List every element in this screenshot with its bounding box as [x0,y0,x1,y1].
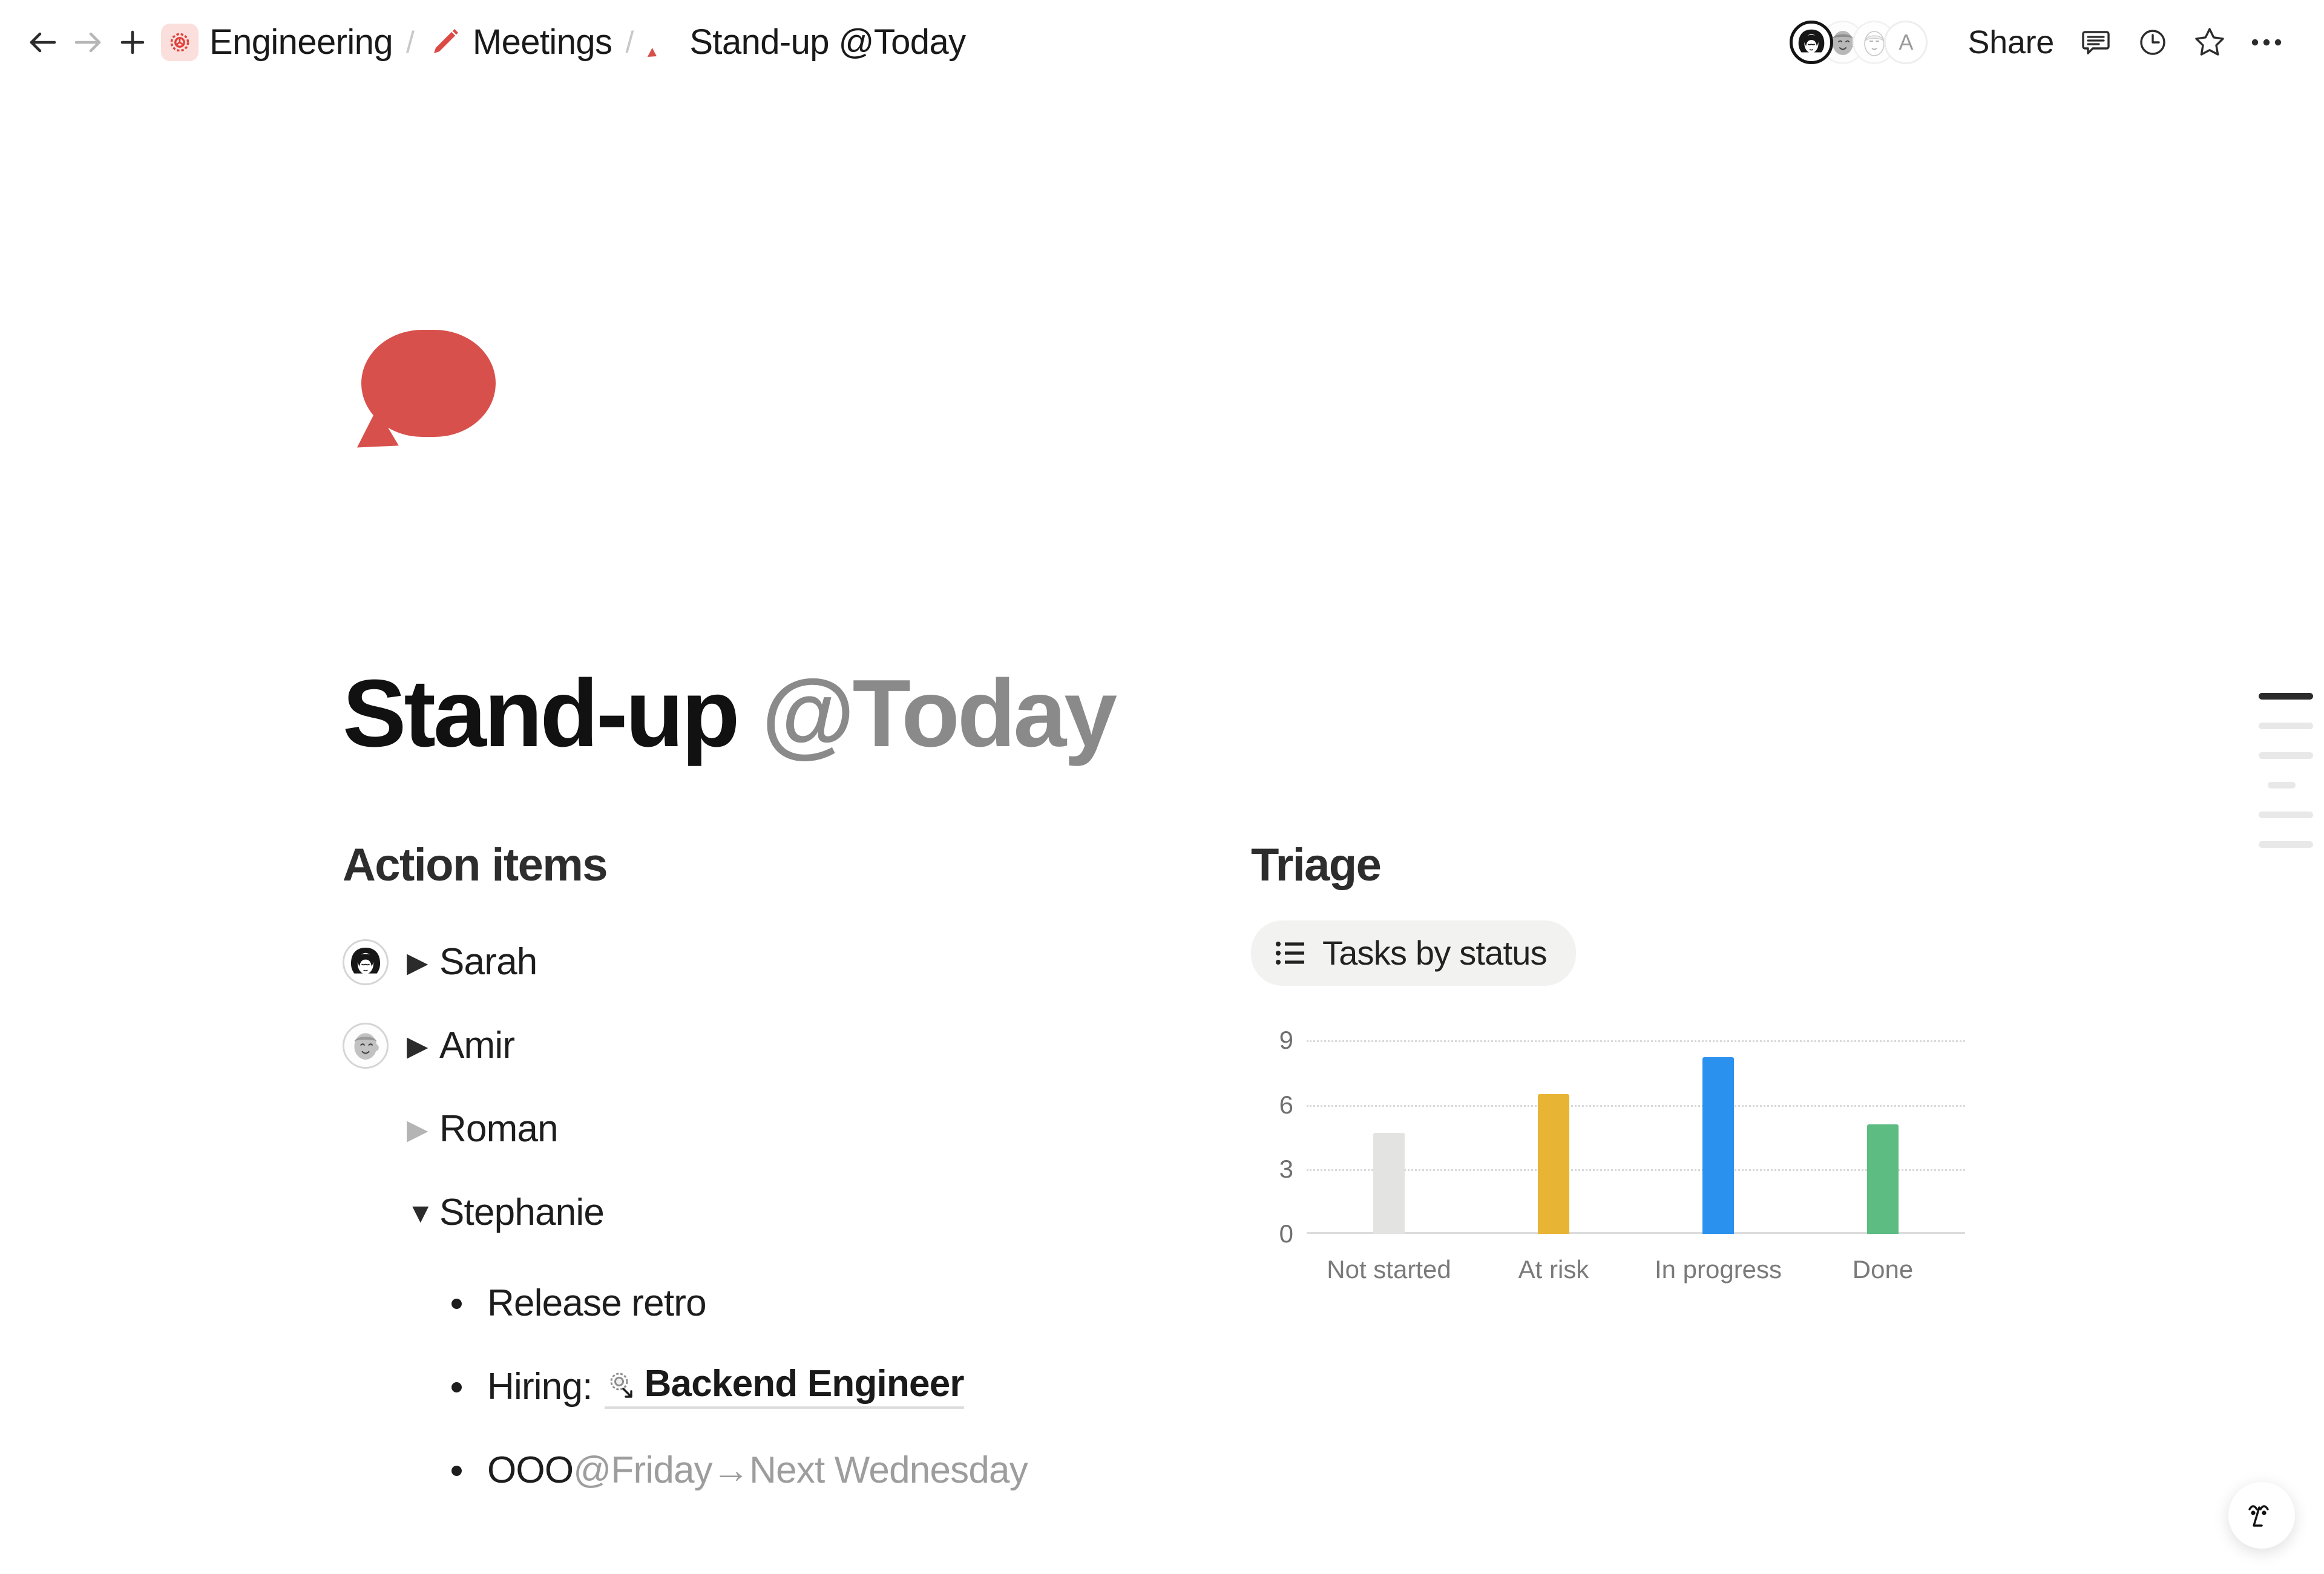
comment-icon [2080,27,2112,58]
page-title-date: @Today [761,660,1115,767]
action-item-name-roman: Roman [439,1110,558,1148]
outline-line-3[interactable] [2268,782,2296,789]
list-item[interactable]: Hiring: Backend Engineer [343,1345,1190,1429]
chart-bar-done[interactable] [1867,1124,1899,1234]
back-button[interactable] [21,20,65,65]
chart-x-tick: At risk [1471,1257,1636,1282]
gear-page-link-icon [605,1368,636,1400]
more-options-icon [2250,36,2283,48]
breadcrumb: Engineering / Meetings / Stand-up @Today [161,24,1790,61]
action-item-name-stephanie: Stephanie [439,1194,604,1231]
outline-line-1[interactable] [2259,723,2313,729]
action-item-person-sarah[interactable]: ▶ Sarah [343,920,1190,1004]
pencil-icon [428,25,462,59]
collapse-caret-stephanie[interactable]: ▼ [407,1199,439,1227]
breadcrumb-label-engineering: Engineering [209,25,393,60]
list-item-hiring: Hiring: Backend Engineer [487,1365,964,1409]
chart-bar-at-risk[interactable] [1538,1094,1569,1234]
chart-y-tick: 3 [1251,1156,1293,1182]
expand-caret-roman[interactable]: ▶ [407,1115,439,1143]
ooo-date-from[interactable]: @Friday [573,1452,712,1489]
chart-bars [1307,1040,1965,1234]
action-item-person-amir[interactable]: ▶ Amir [343,1004,1190,1087]
ooo-arrow: → [712,1452,749,1489]
backend-engineer-link-label: Backend Engineer [645,1365,964,1403]
avatar-placeholder [343,1190,389,1236]
breadcrumb-label-meetings: Meetings [473,25,612,60]
breadcrumb-item-engineering[interactable]: Engineering [161,24,393,61]
chart-y-tick: 0 [1251,1221,1293,1247]
page-title-main: Stand-up [343,660,761,767]
outline-line-0[interactable] [2259,693,2313,700]
action-item-name-sarah: Sarah [439,943,537,981]
top-bar-actions: A Share [1790,18,2295,67]
avatar-sarah [343,939,389,985]
action-items-column: Action items ▶ Sarah [343,842,1190,1512]
star-icon [2193,26,2226,59]
outline-line-2[interactable] [2259,752,2313,759]
new-page-button[interactable] [110,20,155,65]
action-item-person-roman[interactable]: ▶ Roman [343,1087,1190,1171]
breadcrumb-separator-2: / [625,27,634,57]
chart-bar-slot [1636,1040,1800,1234]
assistant-button[interactable] [2228,1482,2295,1549]
plus-icon [119,29,146,56]
chart-bar-not-started[interactable] [1373,1133,1405,1234]
top-bar: Engineering / Meetings / Stand-up @Today [0,0,2324,85]
ooo-date-to[interactable]: Next Wednesday [749,1452,1028,1489]
history-button[interactable] [2124,19,2181,66]
chart-bar-in-progress[interactable] [1702,1057,1734,1234]
assistant-face-icon [2244,1498,2279,1533]
chart-x-tick: Done [1800,1257,1965,1282]
avatar-initial[interactable]: A [1884,21,1928,64]
breadcrumb-label-standup: Stand-up @Today [689,25,965,60]
action-items-heading: Action items [343,842,1190,888]
list-item-text: Release retro [487,1285,706,1322]
list-item-ooo: OOO @Friday → Next Wednesday [487,1452,1028,1489]
tasks-by-status-chip[interactable]: Tasks by status [1251,920,1576,986]
backend-engineer-link[interactable]: Backend Engineer [605,1365,964,1409]
outline-line-5[interactable] [2259,841,2313,848]
breadcrumb-item-meetings[interactable]: Meetings [428,25,612,60]
chart-bar-slot [1471,1040,1636,1234]
document-speech-bubble-icon[interactable] [361,330,497,460]
document-outline-minimap[interactable] [2259,693,2313,871]
share-button[interactable]: Share [1954,18,2067,67]
chart-x-tick: In progress [1636,1257,1800,1282]
chart-bar-slot [1800,1040,1965,1234]
chart-x-tick: Not started [1307,1257,1471,1282]
list-item[interactable]: OOO @Friday → Next Wednesday [343,1429,1190,1512]
action-item-name-amir: Amir [439,1027,514,1064]
document-body: Stand-up @Today Action items ▶ Sarah [0,85,2324,1574]
history-clock-icon [2137,27,2168,58]
avatar-sarah[interactable] [1790,21,1833,64]
more-options-button[interactable] [2238,19,2295,66]
breadcrumb-item-standup[interactable]: Stand-up @Today [647,25,965,60]
list-item[interactable]: Release retro [343,1262,1190,1345]
comment-button[interactable] [2067,19,2124,66]
page-title[interactable]: Stand-up @Today [343,666,1115,761]
chart-y-tick: 9 [1251,1028,1293,1053]
avatar-initial-letter: A [1899,30,1913,55]
forward-button[interactable] [65,20,110,65]
avatar-amir [343,1023,389,1069]
bullet-icon [451,1466,462,1476]
ooo-prefix: OOO [487,1452,573,1489]
collaborator-avatars: A [1790,21,1928,64]
speech-bubble-icon [647,28,678,56]
expand-caret-amir[interactable]: ▶ [407,1032,439,1060]
action-item-person-stephanie[interactable]: ▼ Stephanie [343,1171,1190,1254]
tasks-by-status-chip-label: Tasks by status [1322,936,1547,970]
chart-bar-slot [1307,1040,1471,1234]
outline-line-4[interactable] [2259,812,2313,818]
chart-y-tick: 6 [1251,1092,1293,1118]
expand-caret-sarah[interactable]: ▶ [407,948,439,976]
gear-icon [161,24,199,61]
stephanie-sub-items: Release retro Hiring: Backend [343,1262,1190,1512]
bullet-icon [451,1299,462,1309]
breadcrumb-separator-1: / [406,27,415,57]
triage-heading: Triage [1251,842,2098,888]
tasks-by-status-chart: 0369 Not startedAt riskIn progressDone [1251,1040,1965,1282]
hiring-prefix: Hiring: [487,1368,592,1406]
favorite-button[interactable] [2181,19,2238,66]
list-view-icon [1275,940,1305,966]
bullet-icon [451,1382,462,1392]
triage-column: Triage Tasks by status 0369 Not startedA… [1251,842,2098,1282]
chart-x-axis-labels: Not startedAt riskIn progressDone [1307,1257,1965,1282]
avatar-placeholder [343,1106,389,1152]
